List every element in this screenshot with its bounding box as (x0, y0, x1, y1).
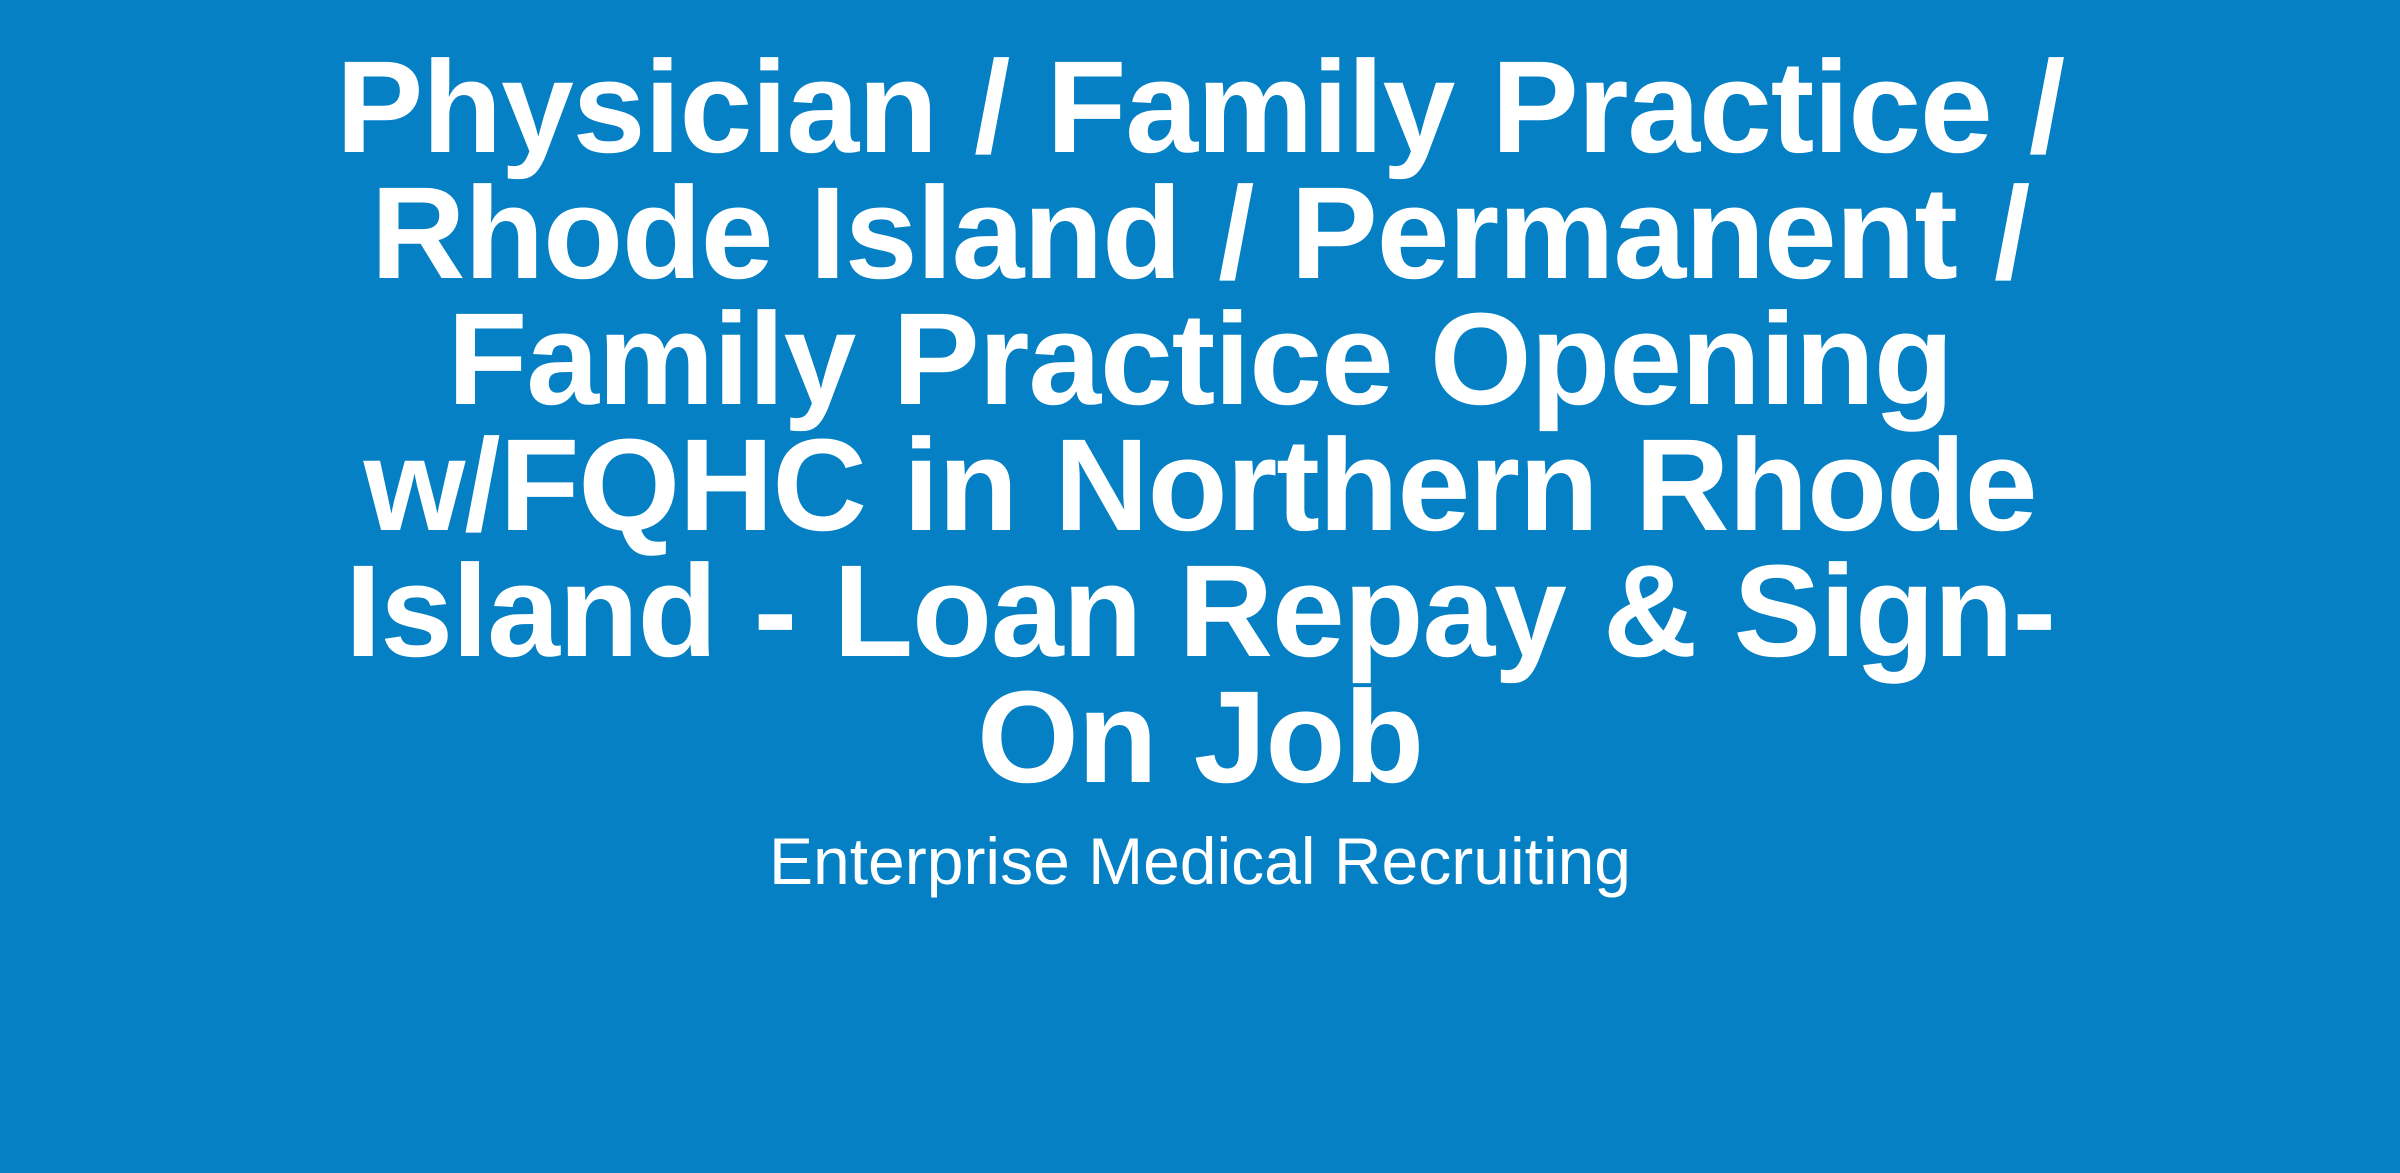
title-line-1: Physician / Family Practice / (300, 44, 2100, 170)
title-line-4: w/FQHC in Northern Rhode (300, 422, 2100, 548)
title-line-5: Island - Loan Repay & Sign- (300, 548, 2100, 674)
title-line-6: On Job (300, 674, 2100, 800)
company-name: Enterprise Medical Recruiting (769, 822, 1631, 900)
title-line-2: Rhode Island / Permanent / (300, 170, 2100, 296)
page-title: Physician / Family Practice / Rhode Isla… (300, 44, 2100, 800)
job-posting-card: Physician / Family Practice / Rhode Isla… (0, 0, 2400, 1173)
title-line-3: Family Practice Opening (300, 296, 2100, 422)
